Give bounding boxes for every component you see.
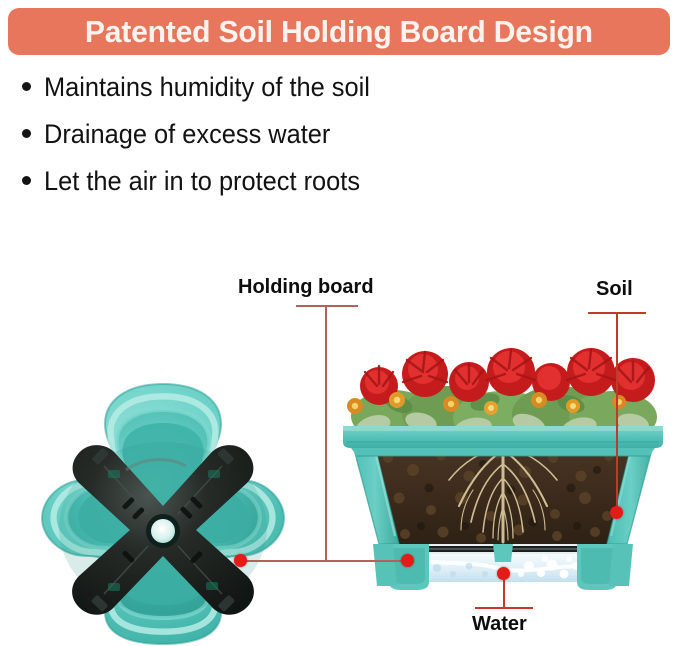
marker-dot-holding-board-right	[401, 554, 414, 567]
bullet-dot-icon	[22, 82, 31, 91]
feature-list: Maintains humidity of the soil Drainage …	[22, 72, 542, 213]
marker-dot-holding-board-left	[234, 554, 247, 567]
annotation-label-water: Water	[472, 613, 527, 636]
feature-text: Maintains humidity of the soil	[44, 72, 370, 102]
marker-dot-soil	[610, 506, 623, 519]
connector-bar-holding-board	[296, 305, 358, 307]
marker-dot-water	[497, 567, 510, 580]
annotation-label-soil: Soil	[596, 278, 633, 301]
connector-line-holding-board-vertical	[325, 305, 327, 562]
bullet-dot-icon	[22, 129, 31, 138]
feature-text: Let the air in to protect roots	[44, 166, 360, 196]
infographic-page: Patented Soil Holding Board Design Maint…	[0, 0, 679, 646]
page-title: Patented Soil Holding Board Design	[85, 14, 593, 50]
header-banner: Patented Soil Holding Board Design	[8, 8, 670, 55]
bullet-dot-icon	[22, 176, 31, 185]
connector-bar-water	[475, 607, 533, 609]
center-drain-hole	[146, 514, 180, 548]
clover-planter-illustration	[8, 378, 318, 646]
list-item: Let the air in to protect roots	[22, 166, 542, 213]
list-item: Drainage of excess water	[22, 119, 542, 166]
feature-text: Drainage of excess water	[44, 119, 330, 149]
connector-line-holding-board-horizontal	[240, 560, 410, 562]
planter-rim	[343, 426, 663, 456]
list-item: Maintains humidity of the soil	[22, 72, 542, 119]
connector-line-soil	[616, 312, 618, 515]
annotation-label-holding-board: Holding board	[238, 276, 374, 299]
product-image-top-view	[8, 378, 318, 646]
